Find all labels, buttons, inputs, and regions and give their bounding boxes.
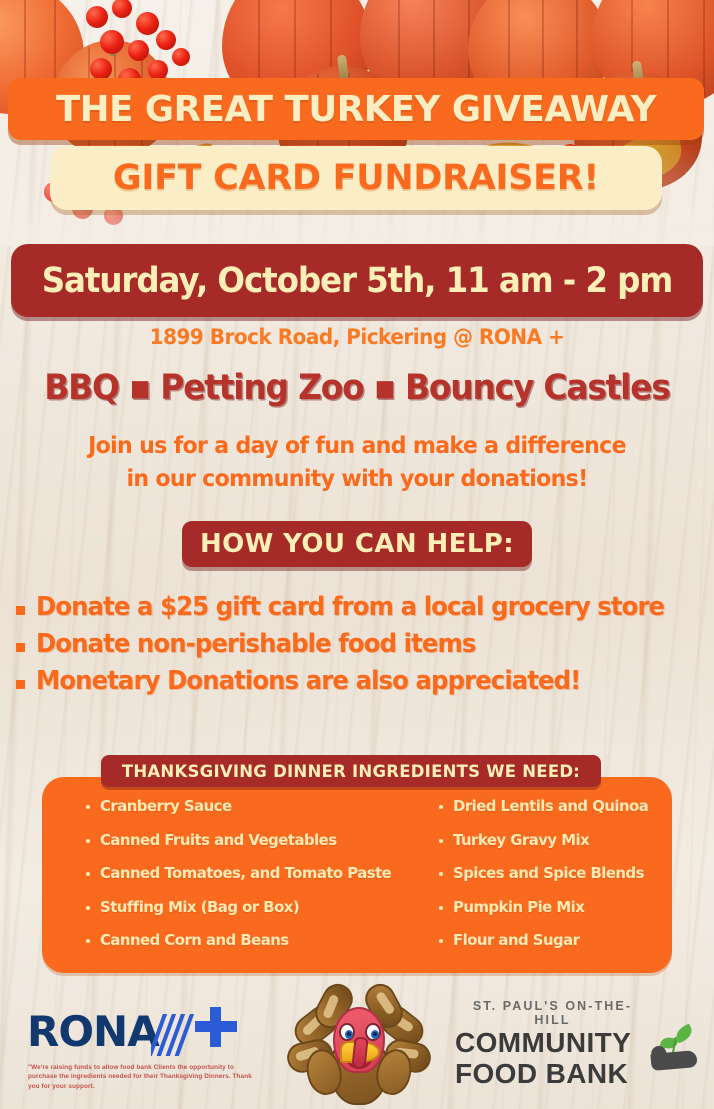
footer: RONA "We're raising funds to allow food … [0,985,714,1109]
list-item: Dried Lentils and Quinoa [439,797,672,831]
date-time-banner: Saturday, October 5th, 11 am - 2 pm [11,244,703,317]
foodbank-name-line-1: COMMUNITY [455,1027,650,1058]
list-item: Canned Fruits and Vegetables [86,831,403,865]
ingredients-columns: Cranberry Sauce Canned Fruits and Vegeta… [42,793,672,973]
dot-bullet-icon [439,839,443,843]
ingredient-label: Turkey Gravy Mix [453,831,589,849]
main-title-text: THE GREAT TURKEY GIVEAWAY [56,89,656,130]
ingredient-label: Canned Corn and Beans [100,931,289,949]
help-item-label: Donate a $25 gift card from a local groc… [36,592,664,622]
dot-bullet-icon [86,839,90,843]
list-item: Donate a $25 gift card from a local groc… [16,592,706,622]
poster: THE GREAT TURKEY GIVEAWAY GIFT CARD FUND… [0,0,714,1109]
disclaimer-text: "We're raising funds to allow food bank … [28,1063,263,1091]
ingredients-heading-banner: THANKSGIVING DINNER INGREDIENTS WE NEED: [101,755,601,787]
subtitle-banner: GIFT CARD FUNDRAISER! [50,146,662,210]
intro-paragraph: Join us for a day of fun and make a diff… [14,430,699,496]
ingredient-label: Canned Fruits and Vegetables [100,831,337,849]
intro-line-1: Join us for a day of fun and make a diff… [14,430,699,463]
square-bullet-icon [16,680,25,689]
dot-bullet-icon [86,805,90,809]
dot-bullet-icon [439,906,443,910]
dot-bullet-icon [439,805,443,809]
date-time-text: Saturday, October 5th, 11 am - 2 pm [42,261,672,301]
dot-bullet-icon [86,906,90,910]
list-item: Canned Corn and Beans [86,931,403,965]
square-bullet-icon [16,606,25,615]
list-item: Spices and Spice Blends [439,864,672,898]
dot-bullet-icon [86,939,90,943]
square-bullet-icon [16,643,25,652]
activities-text: BBQ ▪ Petting Zoo ▪ Bouncy Castles [21,368,692,408]
help-item-label: Donate non-perishable food items [36,629,476,659]
ingredient-label: Flour and Sugar [453,931,579,949]
address-text: 1899 Brock Road, Pickering @ RONA + [18,325,696,349]
hand-with-sprout-icon [651,1027,697,1071]
dot-bullet-icon [439,872,443,876]
rona-logo: RONA [27,1009,237,1057]
ingredients-column-left: Cranberry Sauce Canned Fruits and Vegeta… [42,797,403,973]
list-item: Turkey Gravy Mix [439,831,672,865]
community-food-bank-logo: ST. PAUL'S ON-THE-HILL COMMUNITY FOOD BA… [455,999,695,1091]
help-items-list: Donate a $25 gift card from a local groc… [16,592,706,703]
turkey-mascot-icon [283,993,435,1109]
ingredient-label: Pumpkin Pie Mix [453,898,584,916]
how-you-can-help-banner: HOW YOU CAN HELP: [182,521,532,567]
rona-plus-icon [195,1007,237,1047]
ingredient-label: Spices and Spice Blends [453,864,644,882]
list-item: Monetary Donations are also appreciated! [16,666,706,696]
list-item: Donate non-perishable food items [16,629,706,659]
list-item: Flour and Sugar [439,931,672,965]
list-item: Canned Tomatoes, and Tomato Paste [86,864,403,898]
main-title-banner: THE GREAT TURKEY GIVEAWAY [8,78,704,140]
ingredient-label: Canned Tomatoes, and Tomato Paste [100,864,391,882]
ingredient-label: Stuffing Mix (Bag or Box) [100,898,299,916]
list-item: Pumpkin Pie Mix [439,898,672,932]
help-item-label: Monetary Donations are also appreciated! [36,666,580,696]
how-you-can-help-text: HOW YOU CAN HELP: [200,529,514,559]
dot-bullet-icon [439,939,443,943]
dot-bullet-icon [86,872,90,876]
ingredient-label: Cranberry Sauce [100,797,232,815]
list-item: Stuffing Mix (Bag or Box) [86,898,403,932]
foodbank-org-line: ST. PAUL'S ON-THE-HILL [455,999,650,1027]
ingredients-heading-text: THANKSGIVING DINNER INGREDIENTS WE NEED: [122,762,580,781]
subtitle-text: GIFT CARD FUNDRAISER! [113,158,599,198]
ingredient-label: Dried Lentils and Quinoa [453,797,648,815]
intro-line-2: in our community with your donations! [14,463,699,496]
foodbank-name-line-2: FOOD BANK [455,1058,650,1089]
list-item: Cranberry Sauce [86,797,403,831]
ingredients-column-right: Dried Lentils and Quinoa Turkey Gravy Mi… [403,797,672,973]
